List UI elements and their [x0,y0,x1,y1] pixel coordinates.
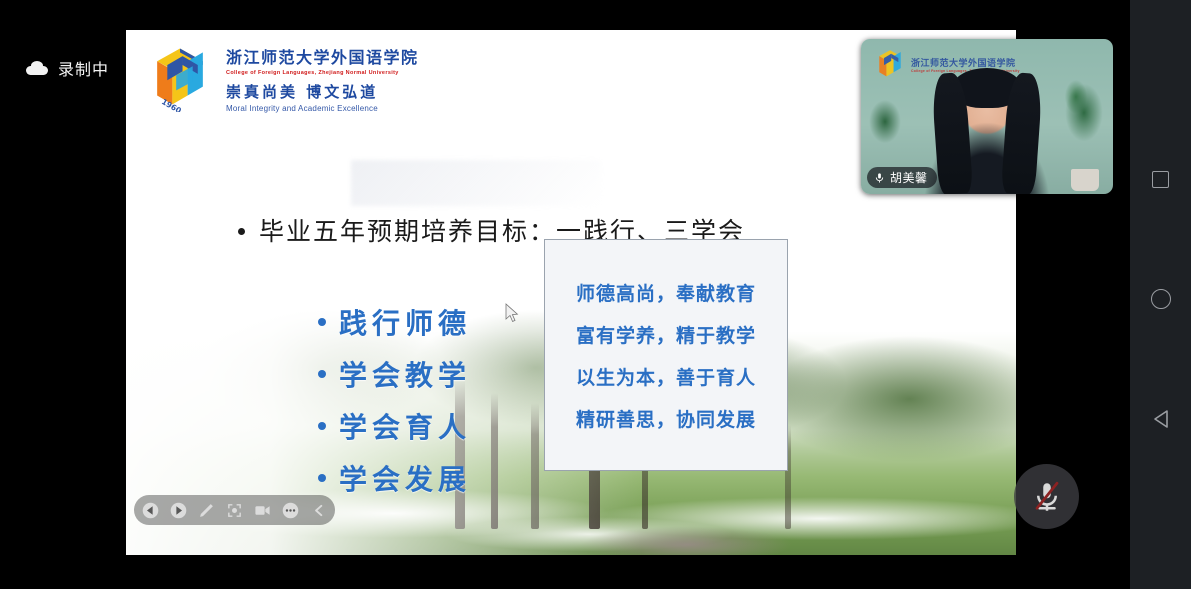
android-nav-bar [1130,0,1191,589]
bullet-dot-icon [318,370,326,378]
logo-cn-name: 浙江师范大学外国语学院 [226,44,419,68]
list-item-label: 学会发展 [339,458,471,498]
list-item: 学会发展 [318,458,471,498]
list-item: 学会育人 [318,406,471,446]
video-background-pot [1071,169,1099,191]
video-logo-cn: 浙江师范大学外国语学院 [911,56,1020,69]
recording-indicator: 录制中 [26,56,109,80]
participant-name: 胡美馨 [890,169,928,186]
previous-slide-button[interactable] [142,502,159,519]
list-item-label: 学会教学 [339,354,471,394]
list-item: 践行师德 [318,302,471,342]
slide-bullet-list: 践行师德 学会教学 学会育人 学会发展 [318,302,471,498]
microphone-muted-icon [1032,480,1062,514]
more-options-button[interactable] [282,502,299,519]
list-item: 学会教学 [318,354,471,394]
microphone-icon [874,171,885,185]
cloud-icon [26,61,48,75]
slide-watermark [351,160,601,206]
annotate-pen-button[interactable] [198,502,215,519]
bullet-dot-icon [318,422,326,430]
square-icon [1152,171,1169,188]
collapse-toolbar-button[interactable] [310,502,327,519]
video-background-plant-right [1059,79,1109,178]
quote-line: 富有学养，精于教学 [561,321,771,348]
nav-back-button[interactable] [1148,406,1174,432]
logo-motto-en: Moral Integrity and Academic Excellence [226,104,419,113]
nav-home-button[interactable] [1148,286,1174,312]
next-slide-button[interactable] [170,502,187,519]
bullet-dot-icon [318,318,326,326]
quote-line: 精研善思，协同发展 [561,405,771,432]
slide-control-toolbar[interactable] [134,495,335,525]
circle-icon [1151,289,1171,309]
participant-name-badge: 胡美馨 [867,167,937,188]
zjnu-logo-icon [875,49,905,80]
triangle-left-icon [1152,409,1170,429]
quote-line: 以生为本，善于育人 [561,363,771,390]
list-item-label: 践行师德 [339,302,471,342]
participant-video-tile[interactable]: 浙江师范大学外国语学院 College of Foreign Languages… [861,39,1113,194]
microphone-mute-button[interactable] [1014,464,1079,529]
mouse-pointer-icon [505,303,521,325]
nav-recents-button[interactable] [1148,167,1174,193]
slide-logo-header: 1960 浙江师范大学外国语学院 College of Foreign Lang… [148,44,419,113]
video-camera-button[interactable] [254,502,271,519]
screen-root: 录制中 1960 [0,0,1191,589]
quote-line: 师德高尚，奉献教育 [561,279,771,306]
zjnu-logo-icon: 1960 [148,46,212,112]
logo-en-name: College of Foreign Languages, Zhejiang N… [226,70,419,76]
recording-label: 录制中 [58,56,109,80]
video-background-plant-left [863,92,907,166]
bullet-dot-icon [318,474,326,482]
slide-quote-box: 师德高尚，奉献教育 富有学养，精于教学 以生为本，善于育人 精研善思，协同发展 [544,239,788,471]
list-item-label: 学会育人 [339,406,471,446]
bullet-dot-icon [238,228,245,235]
laser-pointer-button[interactable] [226,502,243,519]
logo-motto-cn: 崇真尚美 博文弘道 [226,81,419,102]
